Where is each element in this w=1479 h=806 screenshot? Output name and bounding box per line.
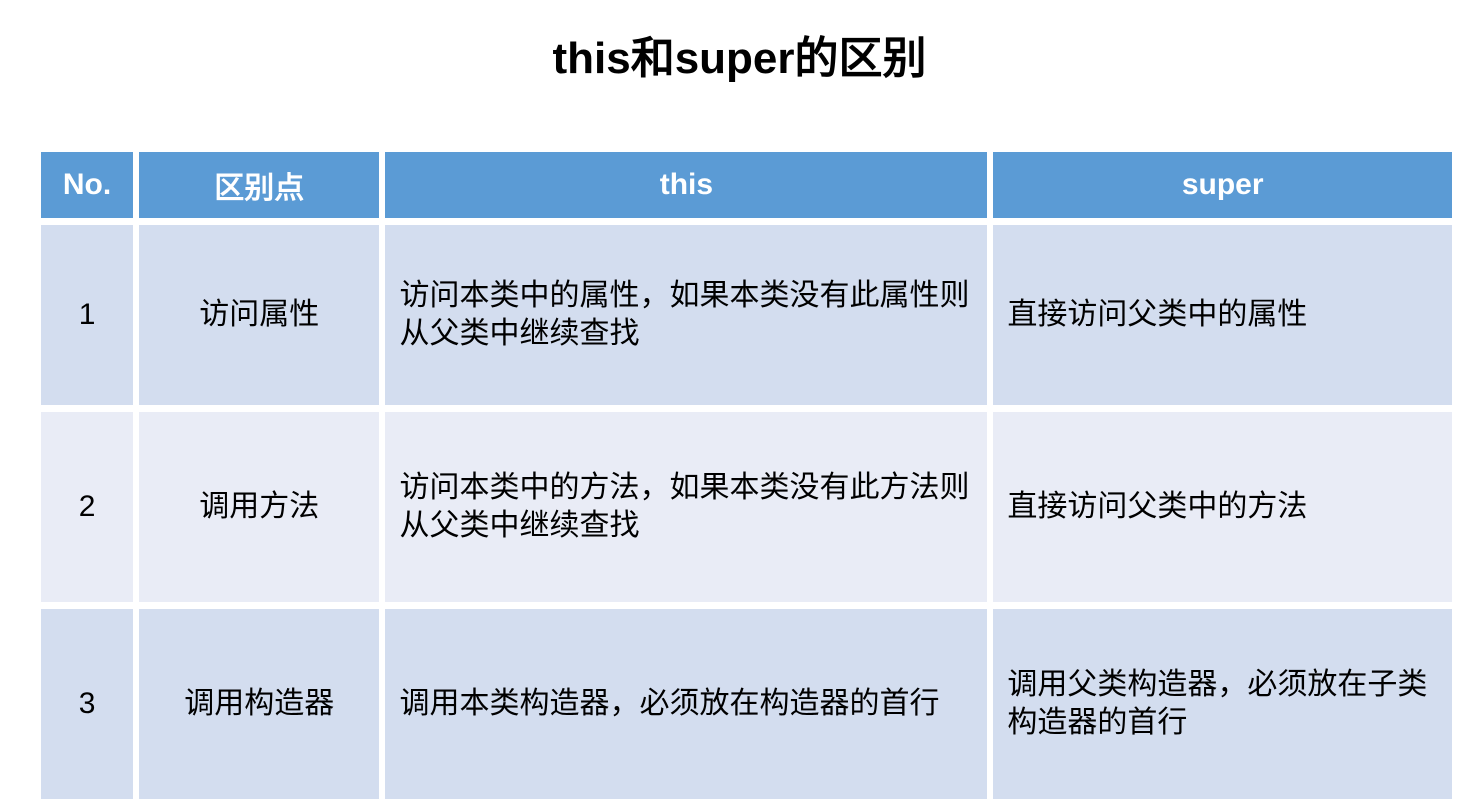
cell-topic: 调用构造器 [139, 609, 379, 799]
table-row: 2 调用方法 访问本类中的方法，如果本类没有此方法则从父类中继续查找 直接访问父… [41, 412, 1452, 602]
cell-super-description: 直接访问父类中的属性 [993, 225, 1452, 405]
column-header-this: this [385, 152, 987, 218]
column-header-super: super [993, 152, 1452, 218]
cell-super-description: 调用父类构造器，必须放在子类构造器的首行 [993, 609, 1452, 799]
cell-super-description: 直接访问父类中的方法 [993, 412, 1452, 602]
table-row: 3 调用构造器 调用本类构造器，必须放在构造器的首行 调用父类构造器，必须放在子… [41, 609, 1452, 799]
cell-this-description: 访问本类中的方法，如果本类没有此方法则从父类中继续查找 [385, 412, 987, 602]
table-row: 1 访问属性 访问本类中的属性，如果本类没有此属性则从父类中继续查找 直接访问父… [41, 225, 1452, 405]
comparison-table-container: No. 区别点 this super 1 访问属性 访问本类中的属性，如果本类没… [41, 152, 1452, 763]
cell-this-description: 调用本类构造器，必须放在构造器的首行 [385, 609, 987, 799]
slide-canvas: this和super的区别 No. 区别点 this super 1 [0, 0, 1479, 775]
cell-row-number: 1 [41, 225, 133, 405]
cell-topic: 访问属性 [139, 225, 379, 405]
page-title: this和super的区别 [0, 30, 1479, 88]
cell-row-number: 3 [41, 609, 133, 799]
column-header-topic: 区别点 [139, 152, 379, 218]
comparison-table: No. 区别点 this super 1 访问属性 访问本类中的属性，如果本类没… [35, 145, 1458, 806]
cell-this-description: 访问本类中的属性，如果本类没有此属性则从父类中继续查找 [385, 225, 987, 405]
table-header-row: No. 区别点 this super [41, 152, 1452, 218]
column-header-no: No. [41, 152, 133, 218]
cell-row-number: 2 [41, 412, 133, 602]
cell-topic: 调用方法 [139, 412, 379, 602]
